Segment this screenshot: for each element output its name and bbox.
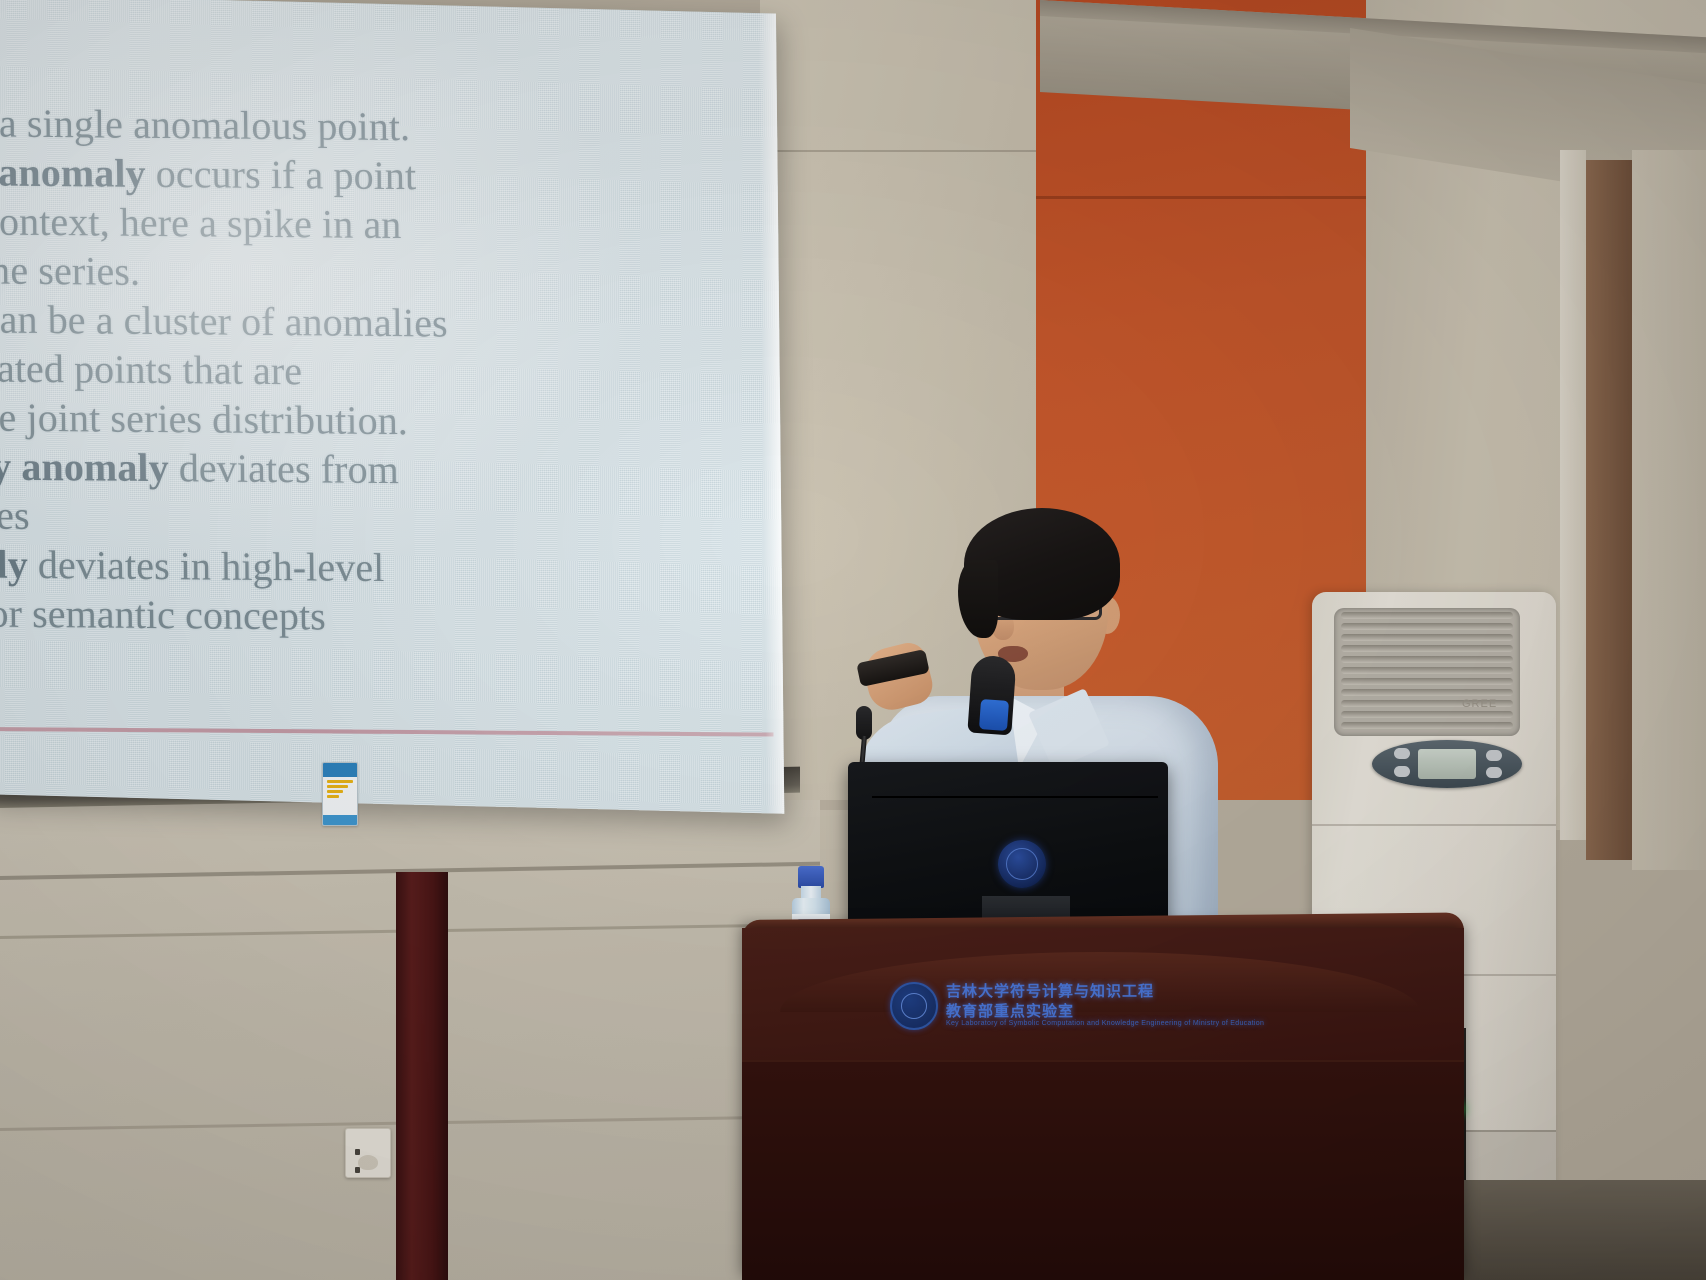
ac-button-power[interactable] [1486, 767, 1502, 778]
podium-text-line1: 吉林大学符号计算与知识工程 [946, 980, 1154, 1001]
slide-line-rest: rs of variation or semantic concepts [0, 588, 326, 638]
slide-line-rest: wise normal time series. [0, 245, 140, 293]
podium-text-line3: Key Laboratory of Symbolic Computation a… [946, 1020, 1264, 1027]
structural-column [396, 872, 448, 1280]
slide-line-rest: deviates in high-level [28, 542, 385, 590]
university-emblem-icon [890, 982, 938, 1030]
hair [964, 508, 1120, 620]
monitor-bezel-seam [872, 796, 1158, 798]
slide-body-text: int anomaly is a single anomalous point.… [0, 96, 763, 644]
podium-text-line2: 教育部重点实验室 [946, 1000, 1074, 1021]
bottle-cap [798, 866, 824, 888]
ac-brand-logo: GREE [1462, 698, 1497, 710]
ac-control-panel[interactable] [1372, 740, 1522, 788]
podium: 吉林大学符号计算与知识工程 教育部重点实验室 Key Laboratory of… [742, 928, 1464, 1280]
slide-line: me series of related points that are [0, 341, 760, 399]
door-panel [1586, 160, 1632, 860]
wall-panel-far-right [1632, 150, 1706, 870]
slide-line: w-level sensory anomaly deviates from [0, 439, 761, 497]
microphone-blue-band [979, 699, 1009, 731]
slide-line: mantic anomaly deviates in high-level [0, 537, 762, 595]
podium-lower-face [742, 1060, 1464, 1280]
door-jamb [1560, 150, 1586, 840]
energy-label-bars [323, 777, 357, 803]
outlet-round-socket [358, 1155, 378, 1170]
slide-line-rest: ow-level features [0, 490, 30, 537]
slide-line: nalous under the joint series distributi… [0, 390, 761, 448]
ac-lcd-display [1418, 749, 1476, 779]
slide-line: wise normal time series. [0, 243, 759, 301]
slide-line-rest: is a single anomalous point. [0, 100, 410, 149]
ac-button-up[interactable] [1394, 748, 1410, 759]
outlet-slots [355, 1142, 381, 1148]
energy-label-footer [323, 815, 357, 825]
slide-line-rest: deviates from [168, 445, 399, 492]
energy-label-header [323, 763, 357, 777]
university-logo-icon [998, 840, 1046, 888]
slide-line: int anomaly is a single anomalous point. [0, 96, 757, 154]
slide-line: oup anomaly can be a cluster of anomalie… [0, 292, 759, 350]
slide-line-rest: can be a cluster of anomalies [0, 296, 448, 345]
microphone-head [856, 706, 872, 740]
slide-line-bold: mantic anomaly [0, 539, 28, 586]
slide-line-rest: nalous under the joint series distributi… [0, 392, 408, 443]
projection-screen: int anomaly is a single anomalous point.… [0, 0, 784, 814]
slide-line: tes in its local context, here a spike i… [0, 194, 758, 252]
slide-line-bold: w-level sensory anomaly [0, 441, 169, 490]
slide-line-rest: tes in its local context, here a spike i… [0, 196, 402, 247]
slide-line: rs of variation or semantic concepts [0, 586, 763, 644]
energy-efficiency-label [322, 762, 358, 826]
slide-line-rest: occurs if a point [145, 151, 416, 198]
floor-area [1440, 1180, 1706, 1280]
slide-line-bold: ntextual point anomaly [0, 147, 146, 195]
slide-line: ntextual point anomaly occurs if a point [0, 145, 758, 203]
slide-line: ow-level features [0, 488, 762, 546]
ac-seam [1312, 824, 1556, 826]
wall-power-outlet[interactable] [345, 1128, 391, 1178]
ac-button-mode[interactable] [1486, 750, 1502, 761]
lecture-hall-photo: int anomaly is a single anomalous point.… [0, 0, 1706, 1280]
slide-line-rest: me series of related points that are [0, 343, 302, 393]
air-vent-grille [1334, 608, 1520, 736]
podium-nameplate: 吉林大学符号计算与知识工程 教育部重点实验室 Key Laboratory of… [890, 978, 1360, 1036]
ac-button-down[interactable] [1394, 766, 1410, 777]
slide-footer-rule [0, 725, 774, 736]
